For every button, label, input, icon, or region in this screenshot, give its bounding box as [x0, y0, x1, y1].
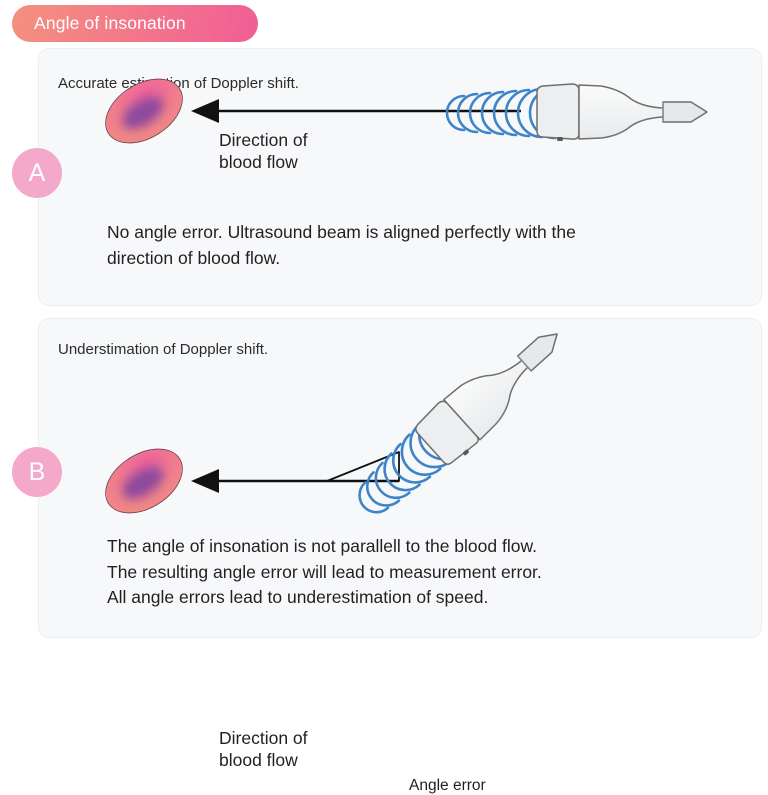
- panel-badge-b-label: B: [29, 460, 46, 485]
- page-title: Angle of insonation: [34, 15, 186, 33]
- ultrasound-probe-a: [537, 84, 707, 139]
- panel-a-heading: Accurate estimation of Doppler shift.: [58, 75, 299, 92]
- blood-flow-arrow-b: [191, 469, 399, 493]
- panel-badge-a-label: A: [29, 161, 46, 186]
- red-blood-cell-b: [94, 436, 194, 526]
- panel-b-heading: Understimation of Doppler shift.: [58, 341, 268, 358]
- panel-badge-b: B: [12, 447, 62, 497]
- blood-flow-label-b: Direction of blood flow: [219, 727, 308, 771]
- panel-b-description: The angle of insonation is not parallell…: [107, 534, 542, 611]
- page-title-pill: Angle of insonation: [12, 5, 258, 42]
- probe-marker-a: [557, 137, 563, 141]
- angle-error-wedge: [327, 452, 399, 481]
- blood-flow-arrow-a: [191, 99, 521, 123]
- blood-flow-label-a: Direction of blood flow: [219, 129, 308, 173]
- panel-understimation: Understimation of Doppler shift.: [38, 318, 762, 638]
- panel-accurate-estimation: Accurate estimation of Doppler shift.: [38, 48, 762, 306]
- panel-badge-a: A: [12, 148, 62, 198]
- panel-a-description: No angle error. Ultrasound beam is align…: [107, 220, 576, 271]
- ultrasound-waves-b: [347, 416, 461, 525]
- ultrasound-probe-b: [412, 319, 576, 469]
- ultrasound-waves-a: [447, 88, 555, 138]
- angle-error-label: Angle error: [409, 777, 486, 795]
